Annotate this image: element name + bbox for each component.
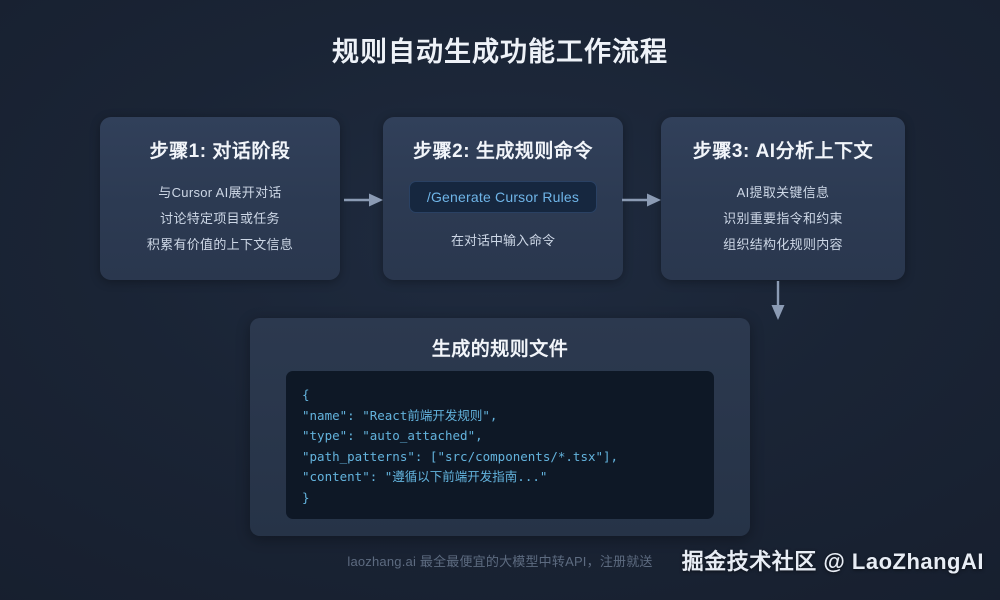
arrow-right-icon-step2-step3	[622, 193, 662, 207]
arrow-down-icon-step3-output	[770, 281, 786, 321]
step-card-1: 步骤1: 对话阶段 与Cursor AI展开对话 讨论特定项目或任务 积累有价值…	[100, 117, 340, 280]
page-title: 规则自动生成功能工作流程	[0, 30, 1000, 69]
arrow-right-icon-step1-step2	[344, 193, 384, 207]
code-line-5: "content": "遵循以下前端开发指南..."	[302, 467, 714, 488]
step-3-title: 步骤3: AI分析上下文	[693, 136, 873, 163]
step-3-line-3: 组织结构化规则内容	[723, 234, 843, 253]
code-line-3: "type": "auto_attached",	[302, 426, 714, 447]
step-2-title: 步骤2: 生成规则命令	[413, 136, 593, 163]
watermark: 掘金技术社区 @ LaoZhangAI	[682, 544, 984, 576]
step-3-lines: AI提取关键信息 识别重要指令和约束 组织结构化规则内容	[723, 182, 843, 253]
rule-file-code-block: { "name": "React前端开发规则", "type": "auto_a…	[286, 371, 714, 519]
step-card-2: 步骤2: 生成规则命令 /Generate Cursor Rules 在对话中输…	[383, 117, 623, 280]
step-card-3: 步骤3: AI分析上下文 AI提取关键信息 识别重要指令和约束 组织结构化规则内…	[661, 117, 905, 280]
code-line-4: "path_patterns": ["src/components/*.tsx"…	[302, 447, 714, 468]
step-2-caption: 在对话中输入命令	[451, 230, 555, 249]
step-3-line-2: 识别重要指令和约束	[723, 208, 843, 227]
step-1-lines: 与Cursor AI展开对话 讨论特定项目或任务 积累有价值的上下文信息	[147, 182, 293, 253]
step-1-line-3: 积累有价值的上下文信息	[147, 234, 293, 253]
step-3-line-1: AI提取关键信息	[737, 182, 830, 201]
step-1-title: 步骤1: 对话阶段	[150, 136, 291, 163]
code-line-2: "name": "React前端开发规则",	[302, 406, 714, 427]
step-1-line-2: 讨论特定项目或任务	[160, 208, 280, 227]
code-line-6: }	[302, 488, 714, 509]
output-panel-title: 生成的规则文件	[250, 334, 750, 361]
generate-cursor-rules-command-chip[interactable]: /Generate Cursor Rules	[409, 181, 597, 213]
step-1-line-1: 与Cursor AI展开对话	[158, 182, 281, 201]
generated-rule-file-panel: 生成的规则文件 { "name": "React前端开发规则", "type":…	[250, 318, 750, 536]
code-line-1: {	[302, 385, 714, 406]
steps-row: 步骤1: 对话阶段 与Cursor AI展开对话 讨论特定项目或任务 积累有价值…	[100, 117, 905, 280]
